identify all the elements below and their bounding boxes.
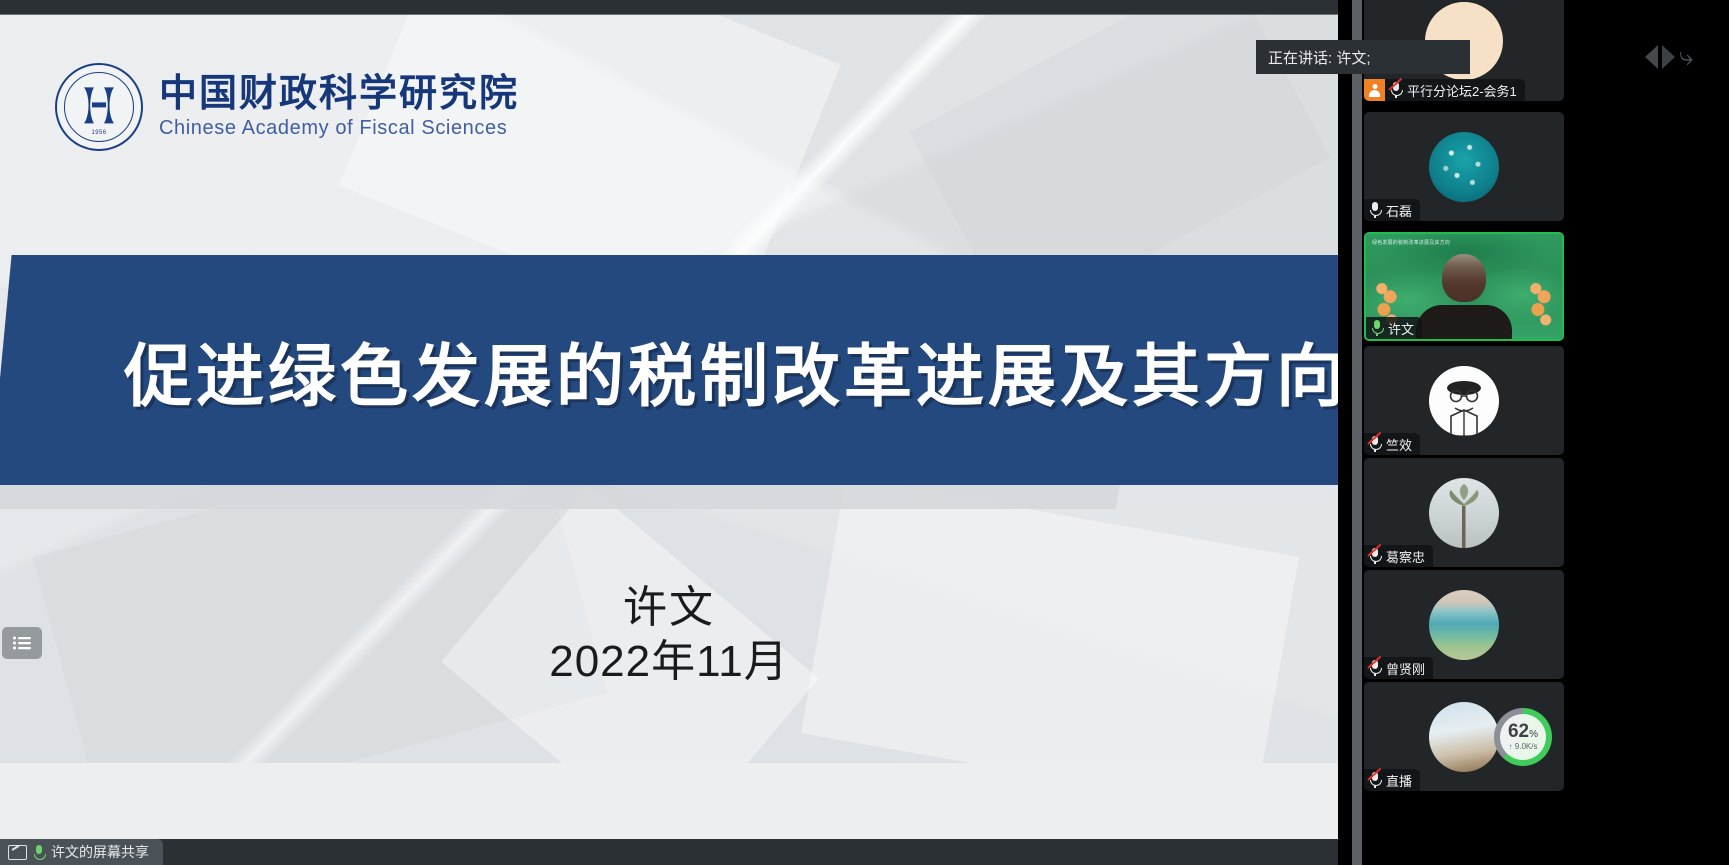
participant-name: 石磊 bbox=[1386, 201, 1412, 220]
participant-name-chip: 石磊 bbox=[1364, 199, 1420, 221]
avatar bbox=[1429, 702, 1499, 772]
rail-nav-controls[interactable]: ⤷ bbox=[1625, 38, 1721, 76]
participant-tile[interactable]: 葛察忠 bbox=[1364, 458, 1564, 567]
page-title: 促进绿色发展的税制改革进展及其方向 bbox=[124, 321, 1338, 420]
microphone-icon bbox=[1369, 202, 1381, 218]
presentation-date: 2022年11月 bbox=[0, 635, 1338, 689]
participant-tile[interactable]: 62% ↑ 9.0K/s 直播 bbox=[1364, 682, 1564, 791]
org-name-en: Chinese Academy of Fiscal Sciences bbox=[159, 116, 519, 140]
participant-name-chip: 直播 bbox=[1364, 769, 1420, 791]
share-status-label: 许文的屏幕共享 bbox=[51, 842, 149, 862]
title-banner: 促进绿色发展的税制改革进展及其方向 bbox=[0, 255, 1338, 485]
participant-name: 直播 bbox=[1386, 771, 1412, 790]
logo-text: 中国财政科学研究院 Chinese Academy of Fiscal Scie… bbox=[159, 74, 519, 139]
share-status-chip: 许文的屏幕共享 bbox=[0, 839, 163, 865]
participant-name: 竺效 bbox=[1386, 435, 1412, 454]
avatar bbox=[1429, 132, 1499, 202]
participant-name-chip: 竺效 bbox=[1364, 433, 1420, 455]
cafs-seal-icon: 1956 bbox=[55, 63, 143, 151]
host-person-icon bbox=[1364, 79, 1385, 101]
download-speed: ↑ 9.0K/s bbox=[1509, 743, 1538, 751]
participant-name-chip: 曾贤刚 bbox=[1364, 657, 1433, 679]
download-percent: 62% bbox=[1508, 722, 1538, 741]
back-arrow-icon[interactable]: ⤷ bbox=[1679, 47, 1701, 67]
speaking-tooltip: 正在讲话: 许文; bbox=[1256, 40, 1470, 74]
microphone-muted-icon bbox=[1369, 436, 1381, 452]
microphone-icon bbox=[34, 845, 44, 860]
participant-name-chip: 平行分论坛2-会务1 bbox=[1364, 79, 1525, 101]
speaking-label: 正在讲话: 许文; bbox=[1268, 47, 1371, 68]
participant-name: 平行分论坛2-会务1 bbox=[1407, 81, 1517, 100]
microphone-muted-icon bbox=[1369, 548, 1381, 564]
participant-list: 平行分论坛2-会务1 石磊 绿色发展的税制改革进展及其方向 bbox=[1364, 0, 1573, 865]
microphone-muted-icon bbox=[1369, 660, 1381, 676]
participant-name: 许文 bbox=[1388, 319, 1414, 338]
rail-scrollbar[interactable] bbox=[1352, 0, 1362, 865]
participant-tile[interactable]: 竺效 bbox=[1364, 346, 1564, 455]
microphone-icon bbox=[1371, 320, 1383, 336]
participant-tile[interactable]: 曾贤刚 bbox=[1364, 570, 1564, 679]
download-progress-ring: 62% ↑ 9.0K/s bbox=[1494, 708, 1552, 766]
participant-rail: 平行分论坛2-会务1 石磊 绿色发展的税制改革进展及其方向 bbox=[1338, 0, 1729, 865]
meeting-screen-share-window: 1956 中国财政科学研究院 Chinese Academy of Fiscal… bbox=[0, 0, 1729, 865]
participant-tile-active-speaker[interactable]: 绿色发展的税制改革进展及其方向 许文 bbox=[1364, 232, 1564, 341]
participant-name-chip: 许文 bbox=[1366, 317, 1422, 339]
video-caption: 绿色发展的税制改革进展及其方向 bbox=[1372, 239, 1450, 246]
avatar bbox=[1429, 478, 1499, 548]
author-name: 许文 bbox=[0, 581, 1338, 635]
avatar bbox=[1429, 366, 1499, 436]
shared-screen-region: 1956 中国财政科学研究院 Chinese Academy of Fiscal… bbox=[0, 0, 1338, 865]
participant-tile[interactable]: 石磊 bbox=[1364, 112, 1564, 221]
seal-year: 1956 bbox=[57, 130, 141, 136]
org-name-cn: 中国财政科学研究院 bbox=[159, 74, 519, 115]
author-block: 许文 2022年11月 bbox=[0, 581, 1338, 688]
participant-name: 曾贤刚 bbox=[1386, 659, 1425, 678]
slide-menu-icon[interactable] bbox=[2, 627, 42, 659]
participant-name: 葛察忠 bbox=[1386, 547, 1425, 566]
microphone-muted-icon bbox=[1369, 772, 1381, 788]
organization-logo: 1956 中国财政科学研究院 Chinese Academy of Fiscal… bbox=[55, 63, 519, 151]
participant-name-chip: 葛察忠 bbox=[1364, 545, 1433, 567]
chevron-right-icon[interactable] bbox=[1662, 45, 1675, 69]
microphone-muted-icon bbox=[1390, 82, 1402, 98]
upload-arrow-icon: ↑ bbox=[1509, 742, 1513, 751]
presentation-slide[interactable]: 1956 中国财政科学研究院 Chinese Academy of Fiscal… bbox=[0, 15, 1338, 763]
screen-share-icon bbox=[8, 845, 27, 860]
chevron-left-icon[interactable] bbox=[1645, 45, 1658, 69]
share-status-bar: 许文的屏幕共享 bbox=[0, 839, 1338, 865]
share-top-bar bbox=[0, 0, 1338, 15]
avatar bbox=[1429, 590, 1499, 660]
